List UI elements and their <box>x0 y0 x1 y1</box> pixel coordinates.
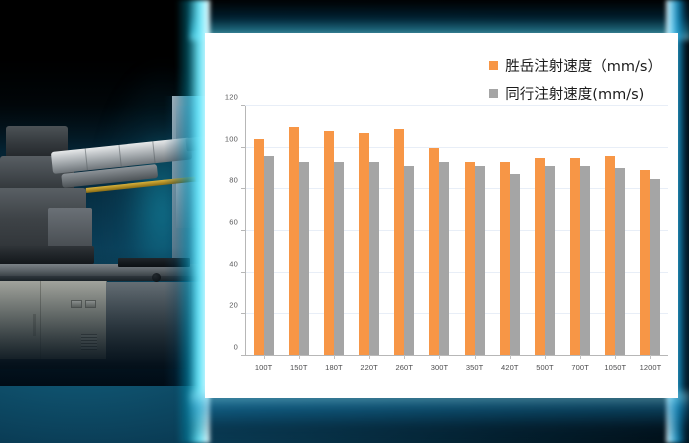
y-axis-tick-label: 20 <box>229 301 238 310</box>
x-axis-tick-mark <box>369 355 370 359</box>
bar-series-1[interactable] <box>570 158 580 355</box>
bar-series-1[interactable] <box>359 133 369 355</box>
bar-series-1[interactable] <box>535 158 545 355</box>
x-axis-tick-mark <box>545 355 546 359</box>
bar-series-2[interactable] <box>475 166 485 355</box>
bar-series-1[interactable] <box>465 162 475 355</box>
bar-series-2[interactable] <box>615 168 625 355</box>
bar-series-1[interactable] <box>254 139 264 355</box>
y-axis-tick-label: 0 <box>234 343 238 352</box>
bar-series-2[interactable] <box>334 162 344 355</box>
bar-series-2[interactable] <box>650 179 660 355</box>
legend-label-series-1: 胜岳注射速度（mm/s） <box>505 55 662 76</box>
bar-series-1[interactable] <box>500 162 510 355</box>
bar-group: 350T <box>457 106 492 355</box>
bar-group: 100T <box>246 106 281 355</box>
bar-group: 420T <box>492 106 527 355</box>
bar-series-2[interactable] <box>404 166 414 355</box>
bar-series-2[interactable] <box>369 162 379 355</box>
x-axis-tick-mark <box>475 355 476 359</box>
x-axis-tick-mark <box>510 355 511 359</box>
x-axis-tick-label: 350T <box>466 363 484 372</box>
glow-bottom-edge <box>190 392 689 443</box>
legend-swatch-icon-orange <box>489 61 498 70</box>
plot-area: 020406080100120 100T150T180T220T260T300T… <box>245 106 668 356</box>
legend-swatch-icon-gray <box>489 89 498 98</box>
legend-item-series-2[interactable]: 同行注射速度(mm/s) <box>489 83 662 104</box>
slide-canvas: 胜岳注射速度（mm/s） 同行注射速度(mm/s) 02040608010012… <box>0 0 689 443</box>
legend-label-series-2: 同行注射速度(mm/s) <box>505 83 644 104</box>
x-axis-tick-label: 300T <box>431 363 449 372</box>
y-axis-tick-label: 120 <box>225 93 238 102</box>
y-axis-tick-label: 40 <box>229 259 238 268</box>
bar-group: 500T <box>527 106 562 355</box>
bar-group: 180T <box>316 106 351 355</box>
bar-series-2[interactable] <box>545 166 555 355</box>
x-axis-tick-label: 150T <box>290 363 308 372</box>
x-axis-tick-label: 700T <box>571 363 589 372</box>
x-axis-tick-mark <box>264 355 265 359</box>
x-axis-tick-label: 500T <box>536 363 554 372</box>
bar-groups: 100T150T180T220T260T300T350T420T500T700T… <box>246 106 668 355</box>
bar-group: 260T <box>387 106 422 355</box>
bar-series-1[interactable] <box>289 127 299 355</box>
x-axis-tick-label: 420T <box>501 363 519 372</box>
x-axis-tick-mark <box>404 355 405 359</box>
x-axis-tick-mark <box>580 355 581 359</box>
bar-series-1[interactable] <box>324 131 334 355</box>
legend-item-series-1[interactable]: 胜岳注射速度（mm/s） <box>489 55 662 76</box>
bar-group: 1050T <box>598 106 633 355</box>
x-axis-line <box>245 355 668 356</box>
y-axis-tick-label: 100 <box>225 134 238 143</box>
chart-legend: 胜岳注射速度（mm/s） 同行注射速度(mm/s) <box>489 55 662 104</box>
bar-series-1[interactable] <box>429 148 439 356</box>
x-axis-tick-mark <box>650 355 651 359</box>
bar-group: 300T <box>422 106 457 355</box>
x-axis-tick-label: 180T <box>325 363 343 372</box>
x-axis-tick-label: 260T <box>396 363 414 372</box>
bar-group: 220T <box>352 106 387 355</box>
x-axis-tick-mark <box>615 355 616 359</box>
x-axis-tick-label: 1050T <box>604 363 626 372</box>
x-axis-tick-mark <box>299 355 300 359</box>
bar-series-2[interactable] <box>264 156 274 355</box>
x-axis-tick-label: 1200T <box>640 363 662 372</box>
bar-series-1[interactable] <box>394 129 404 355</box>
bar-series-2[interactable] <box>580 166 590 355</box>
bar-series-2[interactable] <box>439 162 449 355</box>
bar-series-2[interactable] <box>299 162 309 355</box>
y-axis-tick-label: 60 <box>229 218 238 227</box>
x-axis-tick-mark <box>439 355 440 359</box>
bar-series-1[interactable] <box>640 170 650 355</box>
x-axis-tick-label: 220T <box>360 363 378 372</box>
x-axis-tick-label: 100T <box>255 363 273 372</box>
chart-panel: 胜岳注射速度（mm/s） 同行注射速度(mm/s) 02040608010012… <box>205 33 678 398</box>
bar-series-1[interactable] <box>605 156 615 355</box>
x-axis-tick-mark <box>334 355 335 359</box>
bar-group: 1200T <box>633 106 668 355</box>
y-axis-tick-label: 80 <box>229 176 238 185</box>
bar-group: 150T <box>281 106 316 355</box>
bar-series-2[interactable] <box>510 174 520 355</box>
bar-group: 700T <box>563 106 598 355</box>
